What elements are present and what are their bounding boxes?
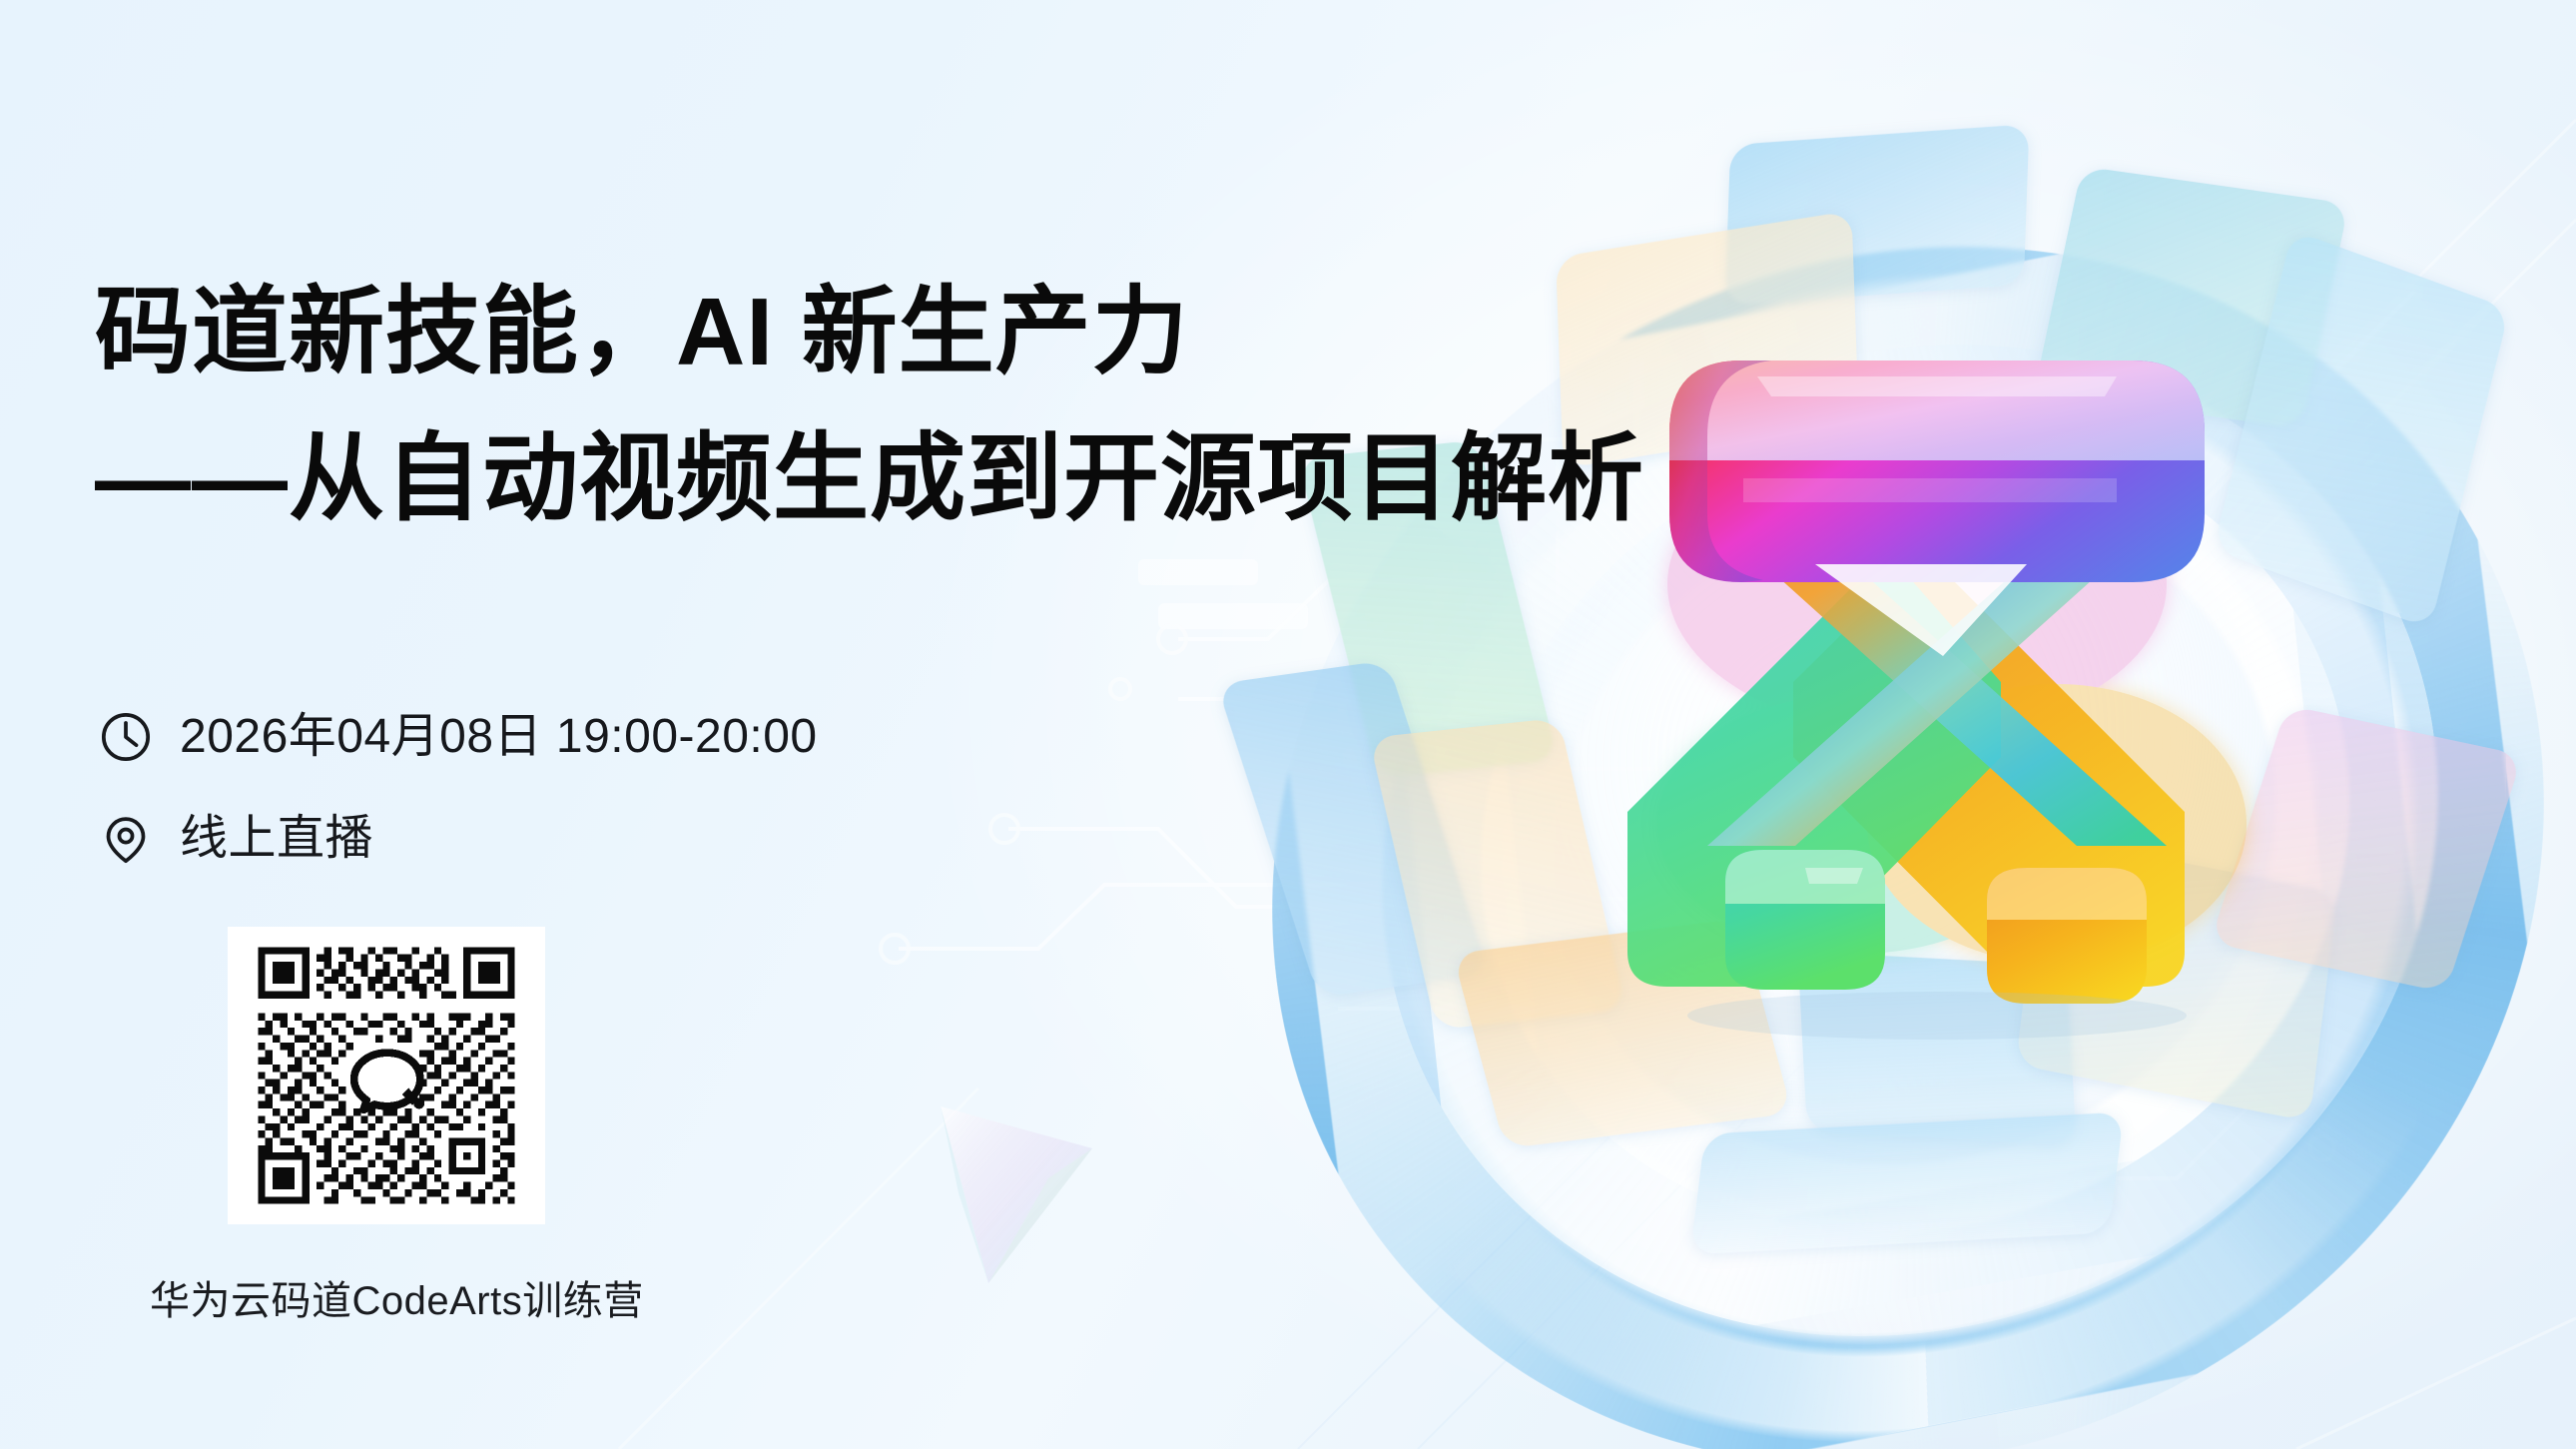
event-datetime-text: 2026年04月08日 19:00-20:00 bbox=[180, 713, 818, 761]
qr-code-image bbox=[251, 940, 522, 1211]
glass-card-bottom-band bbox=[1690, 1112, 2124, 1255]
hero-artwork bbox=[1228, 105, 2576, 1449]
event-location-row: 线上直播 bbox=[98, 811, 373, 867]
map-pin-icon bbox=[98, 811, 154, 867]
qr-caption: 华为云码道CodeArts训练营 bbox=[150, 1268, 629, 1326]
headline-line-1: 码道新技能，AI 新生产力 bbox=[95, 285, 1189, 380]
qr-code[interactable] bbox=[228, 927, 545, 1224]
event-location-text: 线上直播 bbox=[180, 815, 373, 863]
promo-banner: 码道新技能，AI 新生产力 ——从自动视频生成到开源项目解析 2026年04月0… bbox=[0, 0, 2576, 1449]
headline-line-2: ——从自动视频生成到开源项目解析 bbox=[95, 431, 1644, 527]
rainbow-ribbon-3d bbox=[1558, 265, 2316, 1044]
content-column: 码道新技能，AI 新生产力 ——从自动视频生成到开源项目解析 2026年04月0… bbox=[0, 0, 1248, 1449]
clock-icon bbox=[98, 709, 154, 765]
event-datetime-row: 2026年04月08日 19:00-20:00 bbox=[98, 709, 818, 765]
